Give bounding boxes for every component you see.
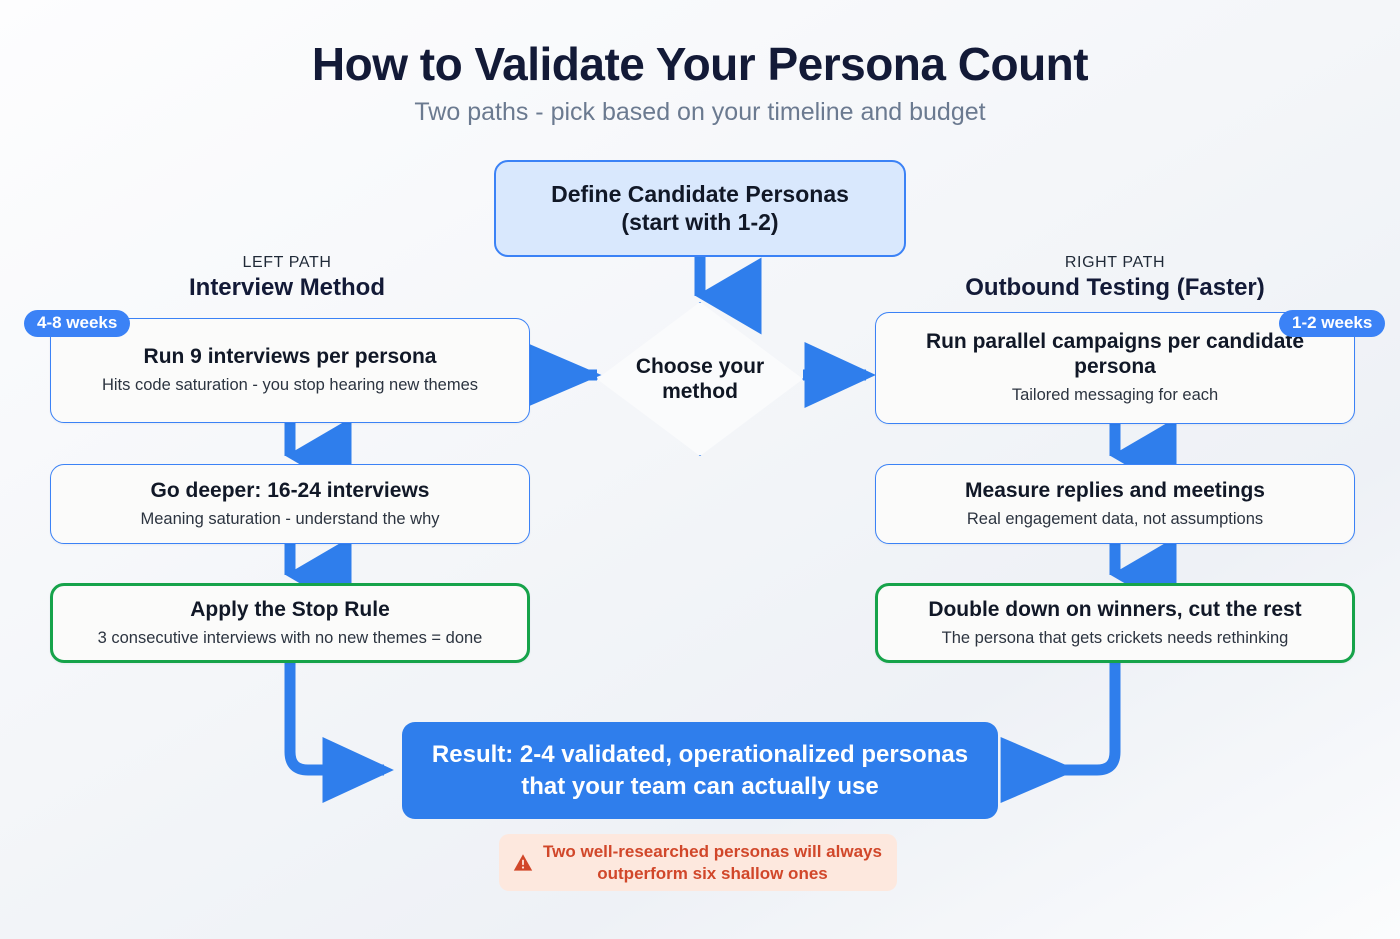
result-text: Result: 2-4 validated, operationalized p… — [428, 739, 972, 801]
node-title: Measure replies and meetings — [965, 479, 1265, 504]
right-path-header: RIGHT PATH Outbound Testing (Faster) — [875, 254, 1355, 302]
node-subtitle: Hits code saturation - you stop hearing … — [102, 375, 478, 396]
left-path-header: LEFT PATH Interview Method — [47, 254, 527, 302]
node-left-step-2[interactable]: Go deeper: 16-24 interviews Meaning satu… — [50, 464, 530, 544]
node-result[interactable]: Result: 2-4 validated, operationalized p… — [402, 722, 998, 819]
node-subtitle: Meaning saturation - understand the why — [140, 509, 439, 530]
node-subtitle: Real engagement data, not assumptions — [967, 509, 1263, 530]
node-title: Double down on winners, cut the rest — [928, 598, 1301, 623]
warning-callout: Two well-researched personas will always… — [499, 834, 897, 891]
node-right-step-3[interactable]: Double down on winners, cut the rest The… — [875, 583, 1355, 663]
node-subtitle: 3 consecutive interviews with no new the… — [98, 628, 483, 649]
badge-left-timeline: 4-8 weeks — [24, 310, 130, 337]
left-path-name: Interview Method — [47, 274, 527, 302]
node-left-step-3[interactable]: Apply the Stop Rule 3 consecutive interv… — [50, 583, 530, 663]
connector-right-to-result — [1016, 663, 1115, 770]
node-subtitle: Tailored messaging for each — [1012, 385, 1218, 406]
node-title: Define Candidate Personas — [551, 181, 849, 208]
decision-choose-your-method[interactable]: Choose your method — [597, 302, 803, 456]
node-subtitle: The persona that gets crickets needs ret… — [942, 628, 1289, 649]
node-subtitle: (start with 1-2) — [621, 209, 778, 236]
page-subtitle: Two paths - pick based on your timeline … — [0, 98, 1400, 127]
page-title: How to Validate Your Persona Count — [0, 37, 1400, 91]
node-right-step-2[interactable]: Measure replies and meetings Real engage… — [875, 464, 1355, 544]
diagram-canvas: How to Validate Your Persona Count Two p… — [0, 0, 1400, 939]
node-title: Apply the Stop Rule — [190, 598, 390, 623]
warning-text: Two well-researched personas will always… — [542, 841, 883, 884]
decision-label: Choose your method — [597, 302, 803, 456]
right-path-kicker: RIGHT PATH — [875, 254, 1355, 272]
node-title: Run 9 interviews per persona — [144, 345, 437, 370]
right-path-name: Outbound Testing (Faster) — [875, 274, 1355, 302]
connector-left-to-result — [290, 663, 384, 770]
node-title: Go deeper: 16-24 interviews — [151, 479, 430, 504]
left-path-kicker: LEFT PATH — [47, 254, 527, 272]
warning-triangle-icon — [513, 853, 533, 872]
badge-right-timeline: 1-2 weeks — [1279, 310, 1385, 337]
node-title: Run parallel campaigns per candidate per… — [892, 330, 1338, 380]
node-define-candidate-personas[interactable]: Define Candidate Personas (start with 1-… — [494, 160, 906, 257]
